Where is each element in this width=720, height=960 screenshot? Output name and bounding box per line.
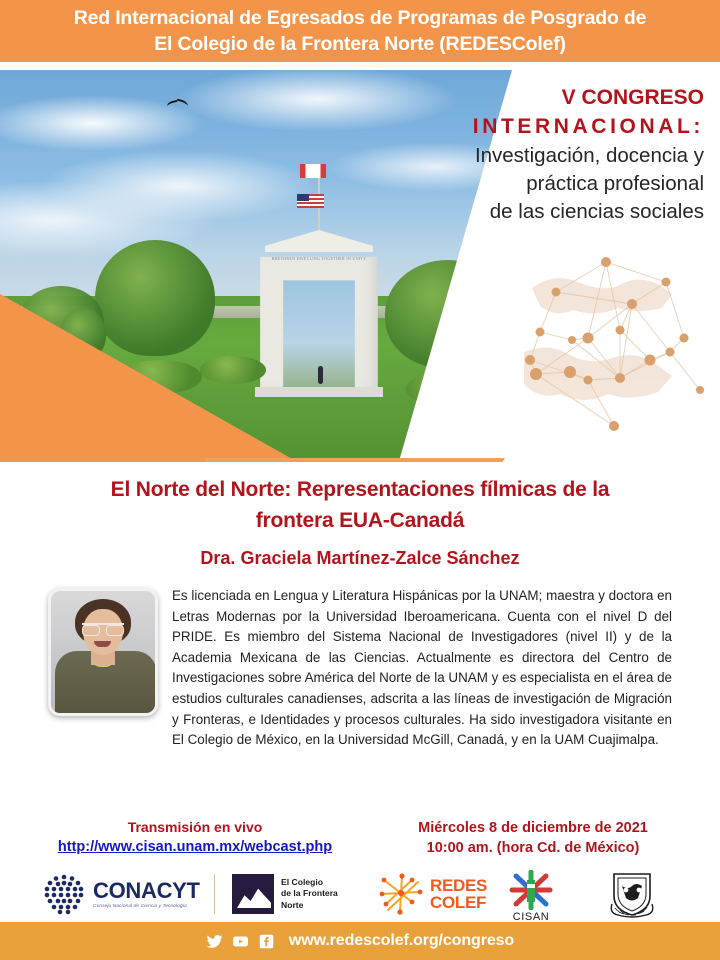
logo-strip: CONACYT Consejo Nacional de Ciencia y Te… (0, 866, 720, 922)
colef-line-2: de la Frontera (281, 888, 338, 900)
redes-line-2: COLEF (430, 894, 487, 911)
redes-network-icon (378, 872, 426, 916)
colef-wordmark: El Colegio de la Frontera Norte (281, 877, 338, 912)
redes-wordmark: REDES COLEF (430, 877, 487, 911)
speaker-avatar (48, 588, 158, 716)
facebook-icon[interactable] (258, 933, 275, 950)
glasses-icon (82, 623, 124, 632)
conacyt-wordmark: CONACYT Consejo Nacional de Ciencia y Te… (93, 880, 200, 909)
tree (95, 240, 215, 356)
talk-title: El Norte del Norte: Representaciones fíl… (60, 474, 660, 536)
conacyt-name: CONACYT (93, 880, 200, 902)
ribbon-body: Conferencia magistral (205, 458, 505, 462)
header-banner: Red Internacional de Egresados de Progra… (0, 0, 720, 62)
youtube-icon[interactable] (232, 933, 249, 950)
congress-line-1: V CONGRESO (404, 84, 704, 112)
congress-line-2: INTERNACIONAL: (404, 112, 704, 142)
unam-logo (606, 870, 658, 918)
unam-shield-icon (606, 870, 658, 918)
visitor-figure (318, 366, 323, 384)
colef-logo: El Colegio de la Frontera Norte (232, 874, 338, 914)
congress-subtitle-1: Investigación, docencia y (404, 142, 704, 170)
colef-mark-icon (232, 874, 274, 914)
colef-line-3: Norte (281, 900, 338, 912)
arch-base (255, 387, 383, 397)
live-stream-title: Transmisión en vivo (30, 818, 360, 837)
conacyt-dots-icon (42, 872, 86, 916)
poster-root: Red Internacional de Egresados de Progra… (0, 0, 720, 960)
congress-title-block: V CONGRESO INTERNACIONAL: Investigación,… (404, 84, 704, 226)
cisan-logo: CISAN (508, 870, 554, 923)
congress-subtitle-3: de las ciencias sociales (404, 198, 704, 226)
speaker-name: Dra. Graciela Martínez-Zalce Sánchez (60, 548, 660, 569)
redescolef-logo: REDES COLEF (378, 872, 487, 916)
canada-flag-icon (300, 164, 326, 178)
twitter-icon[interactable] (206, 933, 223, 950)
live-stream-link[interactable]: http://www.cisan.unam.mx/webcast.php (58, 839, 332, 855)
header-title-line-1: Red Internacional de Egresados de Progra… (74, 5, 647, 31)
speaker-bio: Es licenciada en Lengua y Literatura His… (172, 586, 672, 751)
bird-icon (167, 98, 189, 107)
event-date-block: Miércoles 8 de diciembre de 2021 10:00 a… (368, 818, 698, 858)
event-date: Miércoles 8 de diciembre de 2021 (368, 818, 698, 838)
header-title-line-2: El Colegio de la Frontera Norte (REDESCo… (154, 31, 566, 57)
talk-title-line-1: El Norte del Norte: Representaciones fíl… (60, 474, 660, 505)
shrub (200, 356, 266, 384)
usa-flag-icon (297, 194, 324, 208)
colef-line-1: El Colegio (281, 877, 338, 889)
hero-section: BRETHREN DWELLING TOGETHER IN UNITY (0, 62, 720, 462)
talk-title-line-2: frontera EUA-Canadá (60, 505, 660, 536)
conacyt-tagline: Consejo Nacional de Ciencia y Tecnología (93, 904, 200, 909)
footer-website-url[interactable]: www.redescolef.org/congreso (289, 932, 514, 950)
footer-banner: www.redescolef.org/congreso (0, 922, 720, 960)
congress-subtitle-2: práctica profesional (404, 170, 704, 198)
redes-line-1: REDES (430, 877, 487, 894)
live-stream-block: Transmisión en vivo http://www.cisan.una… (30, 818, 360, 857)
cisan-mark-icon (508, 870, 554, 910)
arch-pediment (265, 230, 373, 252)
event-time: 10:00 am. (hora Cd. de México) (368, 838, 698, 858)
monument-inscription: BRETHREN DWELLING TOGETHER IN UNITY (269, 256, 369, 261)
conferencia-magistral-ribbon: Conferencia magistral (205, 458, 505, 462)
logo-divider (214, 874, 215, 914)
conacyt-logo: CONACYT Consejo Nacional de Ciencia y Te… (42, 872, 200, 916)
